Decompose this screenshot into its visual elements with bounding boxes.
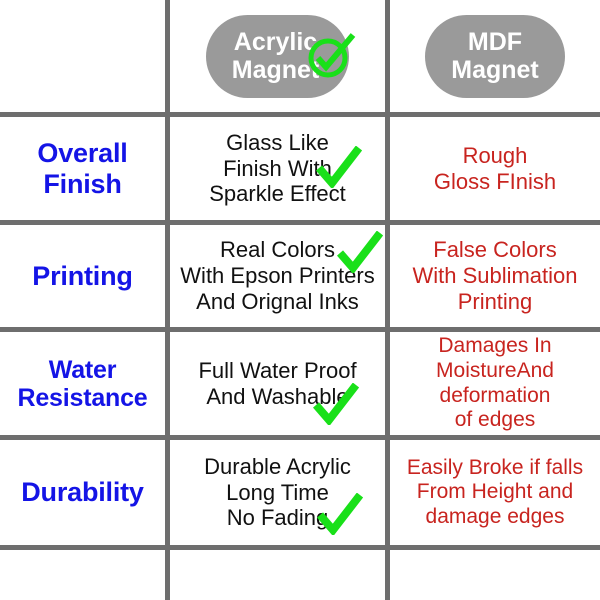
cell-acrylic-water-resistance: Full Water Proof And Washable: [170, 332, 385, 435]
acrylic-value-text: Real Colors With Epson Printers And Orig…: [180, 237, 374, 314]
cell-mdf-printing: False Colors With Sublimation Printing: [390, 225, 600, 327]
value-line: Damages In: [436, 334, 554, 359]
value-line: Full Water Proof: [198, 358, 356, 384]
value-line: From Height and: [407, 480, 583, 505]
cell-mdf-overall-finish: Rough Gloss FInish: [390, 117, 600, 220]
row-label-line1: Printing: [32, 261, 132, 291]
grid-hline-5: [0, 545, 600, 550]
value-line: And Washable: [198, 384, 356, 410]
cell-mdf-water-resistance: Damages In MoistureAnd deformation of ed…: [390, 332, 600, 435]
row-label-printing: Printing: [0, 225, 165, 327]
row-label-line2: Resistance: [17, 384, 147, 412]
circled-check-icon: [303, 29, 357, 83]
value-line: And Orignal Inks: [180, 289, 374, 315]
cell-acrylic-overall-finish: Glass Like Finish With Sparkle Effect: [170, 117, 385, 220]
mdf-value-text: Rough Gloss FInish: [434, 143, 556, 194]
value-line: With Epson Printers: [180, 263, 374, 289]
value-line: False Colors: [412, 237, 577, 263]
acrylic-value-text: Full Water Proof And Washable: [198, 358, 356, 409]
value-line: Long Time: [204, 480, 351, 506]
cell-mdf-durability: Easily Broke if falls From Height and da…: [390, 440, 600, 545]
value-line: Printing: [412, 289, 577, 315]
header-acrylic-cell: Acrylic Magnet: [170, 0, 385, 112]
row-label-line1: Overall: [37, 138, 127, 168]
mdf-magnet-pill: MDF Magnet: [425, 15, 565, 98]
header-corner-cell: [0, 0, 165, 112]
mdf-pill-line1: MDF: [451, 28, 539, 57]
value-line: Glass Like: [209, 130, 346, 156]
row-label-durability: Durability: [0, 440, 165, 545]
row-label-line2: Finish: [43, 169, 121, 199]
acrylic-magnet-pill: Acrylic Magnet: [206, 15, 350, 98]
value-line: damage edges: [407, 505, 583, 530]
row-label-overall-finish: Overall Finish: [0, 117, 165, 220]
value-line: With Sublimation: [412, 263, 577, 289]
value-line: Easily Broke if falls: [407, 456, 583, 481]
comparison-table: Acrylic Magnet MDF Magnet Overall Finish…: [0, 0, 600, 600]
value-line: Finish With: [209, 156, 346, 182]
header-mdf-cell: MDF Magnet: [390, 0, 600, 112]
mdf-pill-line2: Magnet: [451, 56, 539, 85]
row-label-line1: Durability: [21, 477, 144, 507]
value-line: Sparkle Effect: [209, 181, 346, 207]
value-line: MoistureAnd: [436, 359, 554, 384]
cell-acrylic-printing: Real Colors With Epson Printers And Orig…: [170, 225, 385, 327]
mdf-value-text: Damages In MoistureAnd deformation of ed…: [436, 334, 554, 432]
cell-acrylic-durability: Durable Acrylic Long Time No Fading: [170, 440, 385, 545]
value-line: Real Colors: [180, 237, 374, 263]
value-line: Rough: [434, 143, 556, 169]
value-line: Durable Acrylic: [204, 454, 351, 480]
mdf-value-text: Easily Broke if falls From Height and da…: [407, 456, 583, 530]
value-line: Gloss FInish: [434, 169, 556, 195]
value-line: No Fading: [204, 505, 351, 531]
acrylic-value-text: Glass Like Finish With Sparkle Effect: [209, 130, 346, 207]
value-line: deformation: [436, 384, 554, 409]
mdf-value-text: False Colors With Sublimation Printing: [412, 237, 577, 314]
row-label-water-resistance: Water Resistance: [0, 332, 165, 435]
value-line: of edges: [436, 408, 554, 433]
acrylic-value-text: Durable Acrylic Long Time No Fading: [204, 454, 351, 531]
row-label-line1: Water: [49, 356, 117, 384]
